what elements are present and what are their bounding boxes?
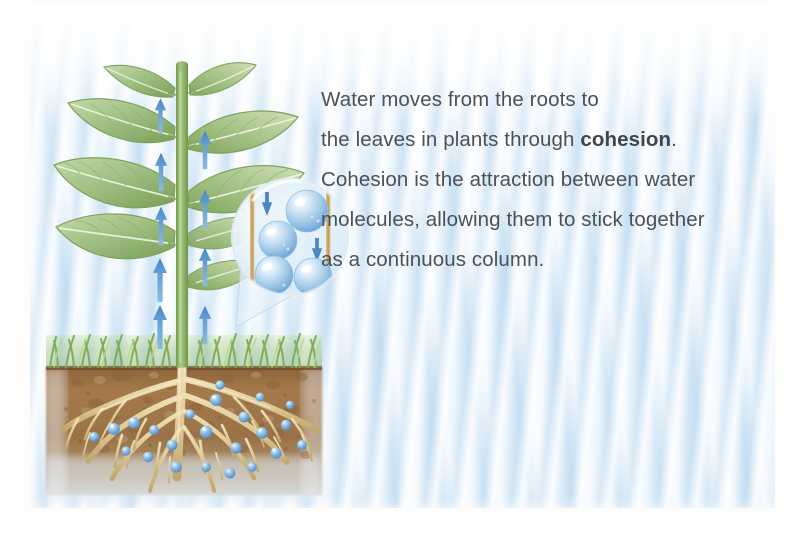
plant-stem	[176, 61, 188, 367]
caption-line-1: Water moves from the roots to	[321, 80, 766, 120]
caption-line-2-post: .	[671, 128, 677, 151]
caption-line-2-pre: the leaves in plants through	[321, 128, 580, 151]
caption-line-5: as a continuous column.	[321, 240, 766, 280]
caption-text-block: Water moves from the roots to the leaves…	[321, 80, 766, 280]
cohesion-keyword: cohesion	[580, 128, 671, 151]
magnified-xylem-view	[250, 175, 332, 301]
illustration-stage: Water moves from the roots to the leaves…	[0, 0, 800, 533]
caption-line-3: Cohesion is the attraction between water	[321, 160, 766, 200]
caption-line-4: molecules, allowing them to stick togeth…	[321, 200, 766, 240]
caption-line-2: the leaves in plants through cohesion.	[321, 120, 766, 160]
